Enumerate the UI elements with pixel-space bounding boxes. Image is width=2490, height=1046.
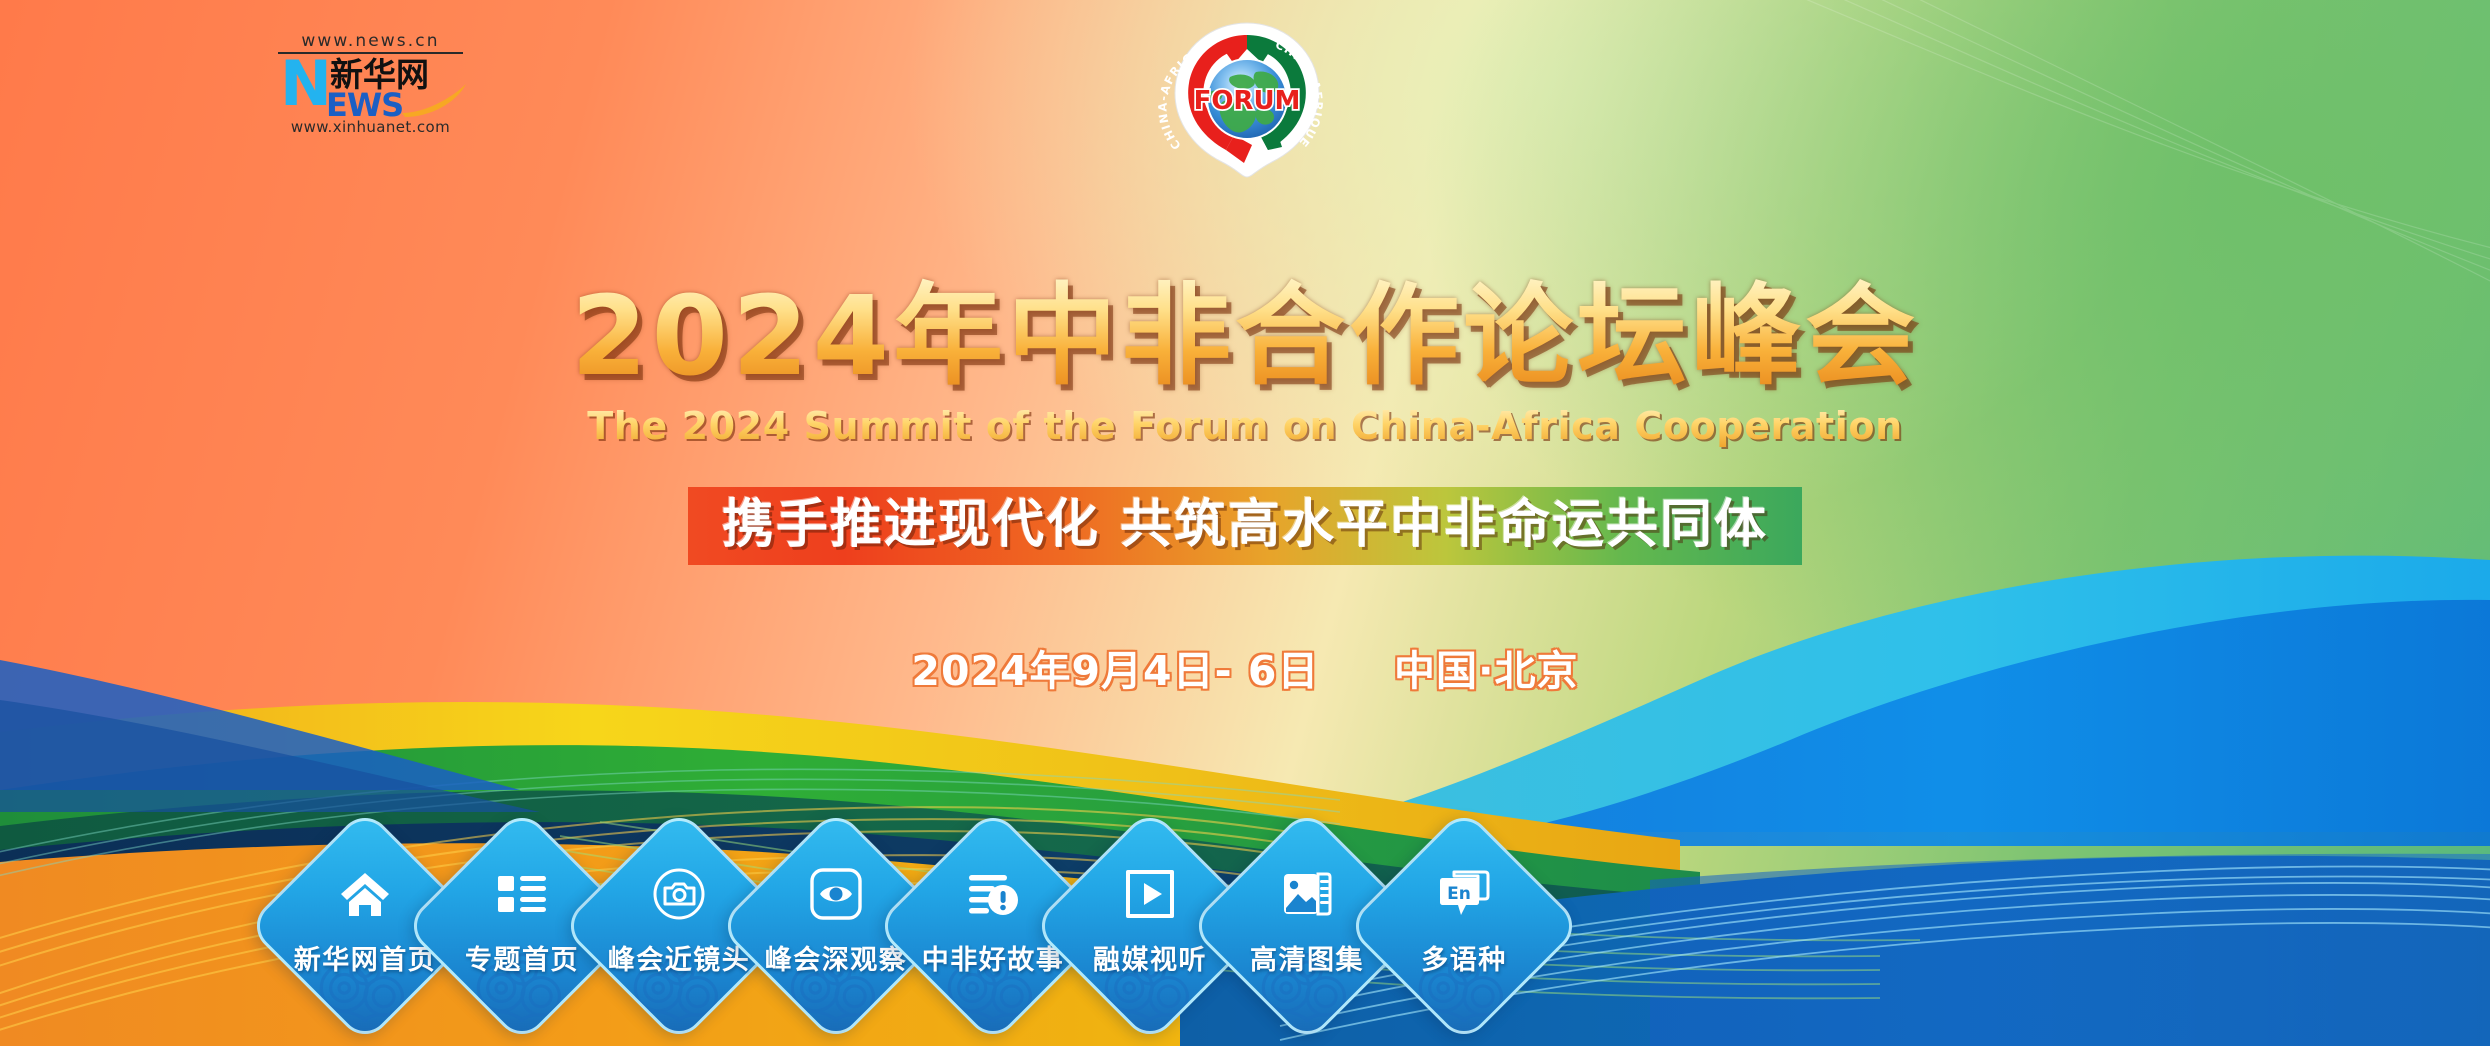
cloud-pattern-icon <box>941 923 1045 1027</box>
emblem-forum-text: FORUM <box>1194 86 1301 116</box>
nav-diamond-bar: 新华网首页 <box>0 806 2490 1046</box>
nav-diamond-shape[interactable] <box>1345 807 1583 1045</box>
slogan-band: 携手推进现代化 共筑高水平中非命运共同体 <box>688 487 1802 565</box>
slogan-band-wrap: 携手推进现代化 共筑高水平中非命运共同体 <box>0 487 2490 565</box>
cloud-pattern-icon <box>1098 923 1202 1027</box>
page-title-cn: 2024年中非合作论坛峰会 <box>571 276 1919 396</box>
slogan-text: 携手推进现代化 共筑高水平中非命运共同体 <box>722 494 1768 556</box>
cloud-pattern-icon <box>784 923 888 1027</box>
nav-item-multilingual[interactable]: En 多语种 <box>1345 806 1583 1046</box>
cloud-pattern-icon <box>1412 923 1516 1027</box>
xinhua-swoosh-icon <box>402 83 468 117</box>
xinhua-logo[interactable]: www.news.cn N 新华网 EWS www.xinhuanet.com <box>278 33 463 143</box>
focac-emblem: FORUM CHINA-AFRICA CHINE-AFRIQUE <box>1152 17 1342 182</box>
cloud-pattern-icon <box>470 923 574 1027</box>
event-dates: 2024年9月4日- 6日 <box>911 647 1319 695</box>
page-title-en: The 2024 Summit of the Forum on China-Af… <box>587 404 1903 448</box>
headline-block: 2024年中非合作论坛峰会 The 2024 Summit of the For… <box>0 276 2490 448</box>
xinhua-news-letters: EWS <box>326 89 403 121</box>
event-dateline: 2024年9月4日- 6日 中国·北京 <box>0 637 2490 697</box>
cloud-pattern-icon <box>1255 923 1359 1027</box>
cloud-pattern-icon <box>313 923 417 1027</box>
xinhua-n-letter: N <box>280 53 332 115</box>
cloud-pattern-icon <box>627 923 731 1027</box>
event-location: 中国·北京 <box>1394 647 1579 695</box>
summit-banner: www.news.cn N 新华网 EWS www.xinhuanet.com <box>0 0 2490 1046</box>
